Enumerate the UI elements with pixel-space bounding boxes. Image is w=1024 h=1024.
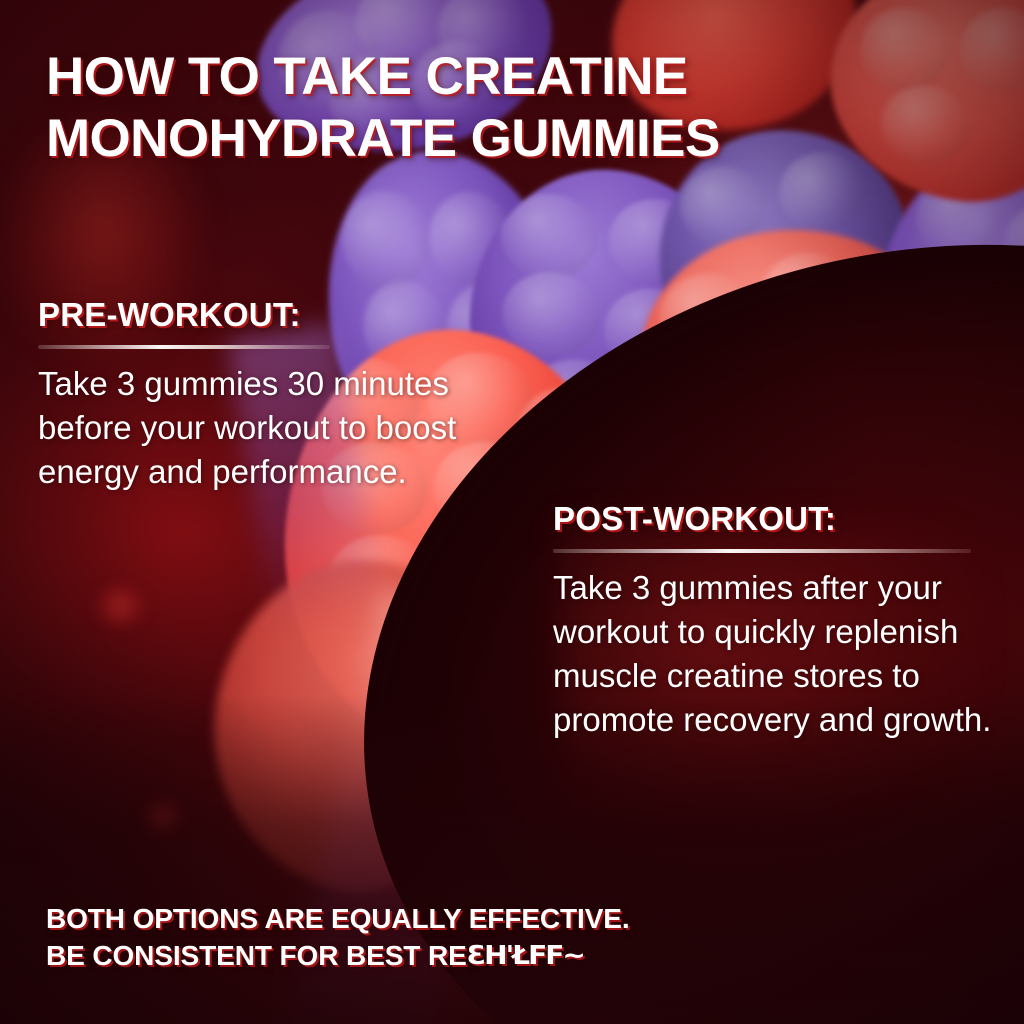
post-workout-block: POST-WORKOUT: Take 3 gummies after your … xyxy=(553,500,1003,742)
pre-workout-block: PRE-WORKOUT: Take 3 gummies 30 minutes b… xyxy=(38,296,498,494)
footer-line-2-prefix: BE CONSISTENT FOR BEST RE xyxy=(46,940,467,971)
post-workout-heading: POST-WORKOUT: xyxy=(553,500,1003,538)
pre-workout-heading: PRE-WORKOUT: xyxy=(38,296,498,334)
post-workout-divider xyxy=(553,549,971,553)
footer-garbled-text: ƐH'ŁFF~ xyxy=(467,938,584,972)
footer-line-1: BOTH OPTIONS ARE EQUALLY EFFECTIVE. xyxy=(46,900,946,937)
footer-line-2: BE CONSISTENT FOR BEST REƐH'ŁFF~ xyxy=(46,937,946,974)
pre-workout-divider xyxy=(38,345,330,349)
poster-canvas: HOW TO TAKE CREATINE MONOHYDRATE GUMMIES… xyxy=(0,0,1024,1024)
pre-workout-body: Take 3 gummies 30 minutes before your wo… xyxy=(38,362,498,494)
page-title: HOW TO TAKE CREATINE MONOHYDRATE GUMMIES xyxy=(46,46,926,170)
footer-note: BOTH OPTIONS ARE EQUALLY EFFECTIVE. BE C… xyxy=(46,900,946,974)
post-workout-body: Take 3 gummies after your workout to qui… xyxy=(553,566,1003,742)
